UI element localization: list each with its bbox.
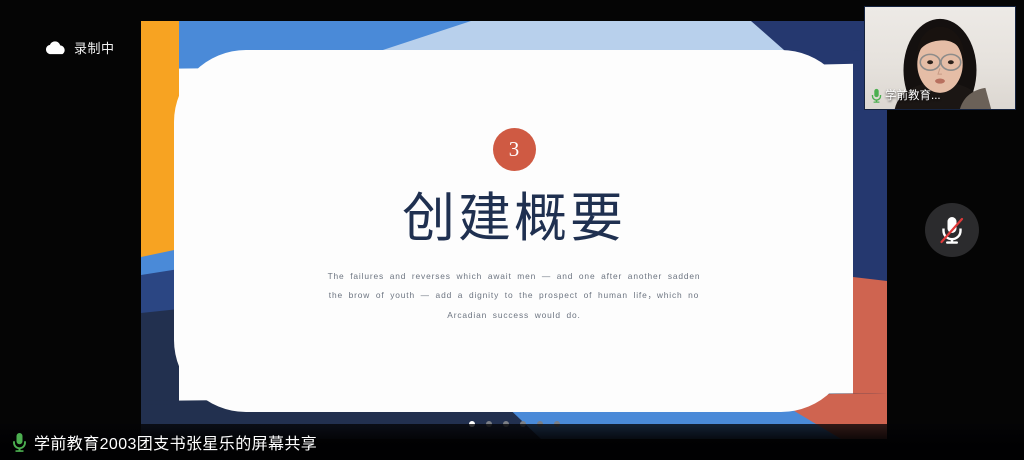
slide-body-text: The failures and reverses which await me…	[324, 267, 704, 326]
slide-content: 3 创建概要 The failures and reverses which a…	[141, 21, 887, 439]
recording-indicator: 录制中	[46, 38, 115, 57]
shared-slide[interactable]: 3 创建概要 The failures and reverses which a…	[141, 21, 887, 439]
slide-number-badge: 3	[493, 128, 536, 171]
screen-share-viewer: 录制中 3 创建概要	[0, 0, 1024, 460]
mute-toggle-button[interactable]	[925, 203, 979, 257]
participant-name: 学前教育...	[885, 87, 941, 103]
cloud-icon	[46, 41, 66, 55]
recording-label: 录制中	[74, 38, 115, 57]
microphone-muted-icon	[939, 215, 965, 245]
microphone-icon	[12, 432, 27, 452]
slide-title: 创建概要	[402, 191, 626, 247]
screen-share-status-bar: 学前教育2003团支书张星乐的屏幕共享	[0, 424, 1024, 460]
share-bar-label: 学前教育2003团支书张星乐的屏幕共享	[34, 430, 317, 454]
